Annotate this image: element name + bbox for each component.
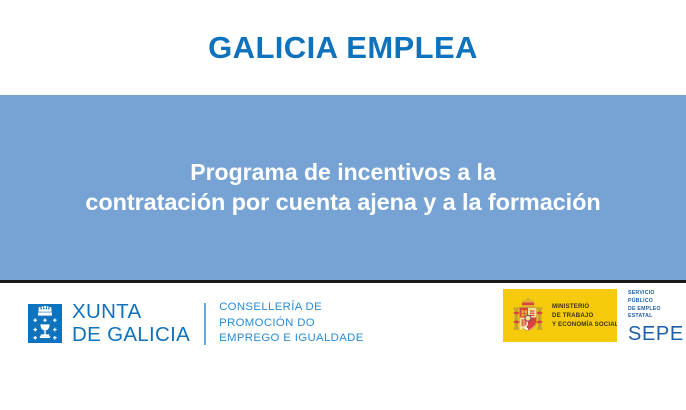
- government-logos: MINISTERIO DE TRABAJO Y ECONOMÍA SOCIAL …: [503, 289, 686, 342]
- spain-coat-of-arms-icon: [513, 297, 543, 335]
- conselleria-line-3: EMPREGO E IGUALDADE: [219, 331, 364, 347]
- footer-logo-strip: XUNTA DE GALICIA CONSELLERÍA DE PROMOCIÓ…: [0, 283, 686, 407]
- sepe-acronym: SEPE: [628, 324, 675, 344]
- galicia-coat-of-arms-icon: [28, 304, 62, 343]
- page-title: GALICIA EMPLEA: [208, 32, 478, 63]
- logo-divider: [204, 303, 206, 345]
- ministerio-line-2: DE TRABAJO: [552, 311, 619, 320]
- ministerio-line-1: MINISTERIO: [552, 302, 619, 311]
- ministerio-de-trabajo-logo: MINISTERIO DE TRABAJO Y ECONOMÍA SOCIAL: [503, 289, 617, 342]
- conselleria-line-2: PROMOCIÓN DO: [219, 316, 364, 332]
- conselleria-line-1: CONSELLERÍA DE: [219, 300, 364, 316]
- sepe-name-line-2: DE EMPLEO ESTATAL: [628, 306, 675, 321]
- sepe-name-line-1: SERVICIO PÚBLICO: [628, 290, 675, 305]
- xunta-de-galicia-logo: XUNTA DE GALICIA CONSELLERÍA DE PROMOCIÓ…: [28, 300, 364, 347]
- banner-text-line-2: contratación por cuenta ajena y a la for…: [85, 187, 600, 218]
- ministerio-label: MINISTERIO DE TRABAJO Y ECONOMÍA SOCIAL: [552, 302, 619, 329]
- ministerio-line-3: Y ECONOMÍA SOCIAL: [552, 320, 619, 329]
- conselleria-label: CONSELLERÍA DE PROMOCIÓN DO EMPREGO E IG…: [219, 300, 364, 347]
- program-banner: Programa de incentivos a la contratación…: [0, 95, 686, 283]
- xunta-wordmark-line-1: XUNTA: [72, 301, 190, 324]
- sepe-logo: SERVICIO PÚBLICO DE EMPLEO ESTATAL SEPE: [617, 289, 686, 342]
- xunta-wordmark: XUNTA DE GALICIA: [72, 301, 190, 347]
- sepe-full-name: SERVICIO PÚBLICO DE EMPLEO ESTATAL: [628, 290, 675, 320]
- header: GALICIA EMPLEA: [0, 0, 686, 95]
- banner-text: Programa de incentivos a la contratación…: [77, 157, 608, 218]
- banner-text-line-1: Programa de incentivos a la: [85, 157, 600, 187]
- xunta-wordmark-line-2: DE GALICIA: [72, 324, 190, 347]
